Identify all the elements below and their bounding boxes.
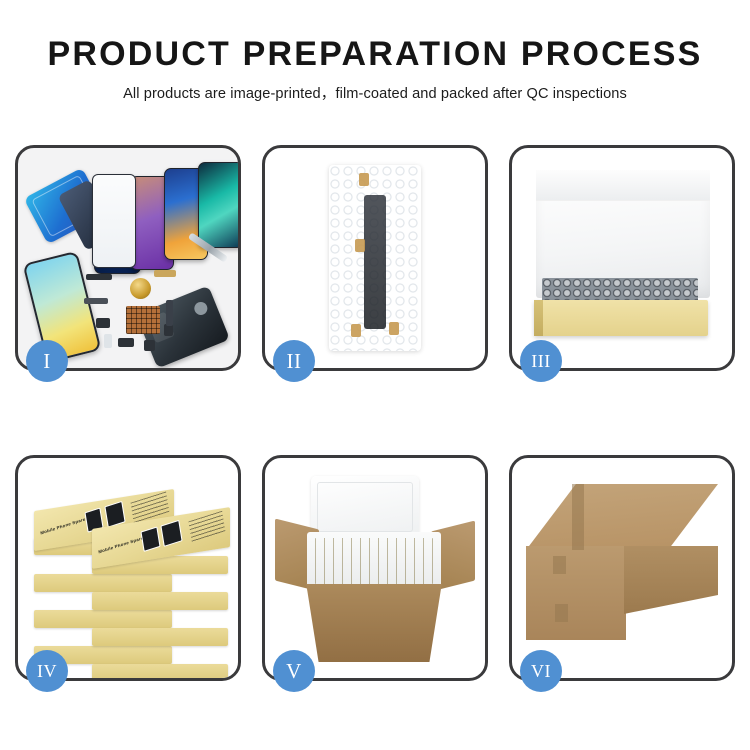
chip-part-1 [86,274,112,280]
step-image-4: Mobile Phone Spare Parts Mobile Phone Sp… [18,458,238,678]
adhesive-tab-4 [389,322,399,335]
step-badge-2: II [273,340,315,382]
step-panel-6: VI [509,455,735,681]
carton-front-face [526,546,626,640]
step-badge-1: I [26,340,68,382]
step-badge-4: IV [26,650,68,692]
carton-tape-top [572,484,584,550]
chip-part-3 [118,338,134,347]
stacked-box-front-8 [92,664,228,678]
step-panel-5: V [262,455,488,681]
carton-side-face [624,546,718,614]
box-stack: Mobile Phone Spare Parts Mobile Phone Sp… [30,482,226,666]
step-panel-1: I [15,145,241,371]
chip-part-4 [144,340,155,351]
step-badge-3: III [520,340,562,382]
stacked-box-front-2 [34,574,172,592]
bubble-wrap-pouch [329,165,421,351]
step-image-2 [265,148,485,368]
box-print-text-block-2 [188,511,225,543]
phone-teal [198,162,238,248]
foam-box-lid [311,476,419,538]
box-print-image-3 [140,526,160,552]
step-badge-6: VI [520,650,562,692]
step-image-5 [265,458,485,678]
step-image-6 [512,458,732,678]
stacked-box-front-3 [34,610,172,628]
page-title: PRODUCT PREPARATION PROCESS [0,36,750,72]
page-subtitle: All products are image-printed，film-coat… [0,82,750,103]
flex-cable-3 [84,298,108,304]
yellow-box-base [534,300,708,336]
adhesive-tab-3 [351,324,361,337]
step-panel-3: III [509,145,735,371]
step-panel-2: II [262,145,488,371]
carton-tape-front-2 [555,604,568,622]
step-panel-4: Mobile Phone Spare Parts Mobile Phone Sp… [15,455,241,681]
copper-mesh-part [126,306,160,334]
carton-body [297,584,451,662]
carton-top-face [526,484,718,550]
adhesive-tab-1 [359,173,369,186]
chip-part-2 [96,318,110,328]
yellow-boxes-inside [315,538,433,584]
flex-cable-1 [154,270,176,277]
carton-tape-front-1 [553,556,566,574]
yellow-box-side [534,300,543,336]
adhesive-tab-2 [355,239,365,252]
step-image-1 [18,148,238,368]
stacked-box-front-6 [92,592,228,610]
flex-cable-2 [166,300,173,326]
page-header: PRODUCT PREPARATION PROCESS All products… [0,0,750,103]
speaker-coil-part [130,278,151,299]
wrapped-screen-part [364,195,386,329]
step-badge-5: V [273,650,315,692]
process-steps-grid: I II III [15,145,735,681]
box-print-image-4 [160,520,182,547]
small-component [104,334,112,348]
step-image-3 [512,148,732,368]
stacked-box-front-7 [92,628,228,646]
tempered-glass-sheet [92,174,136,268]
